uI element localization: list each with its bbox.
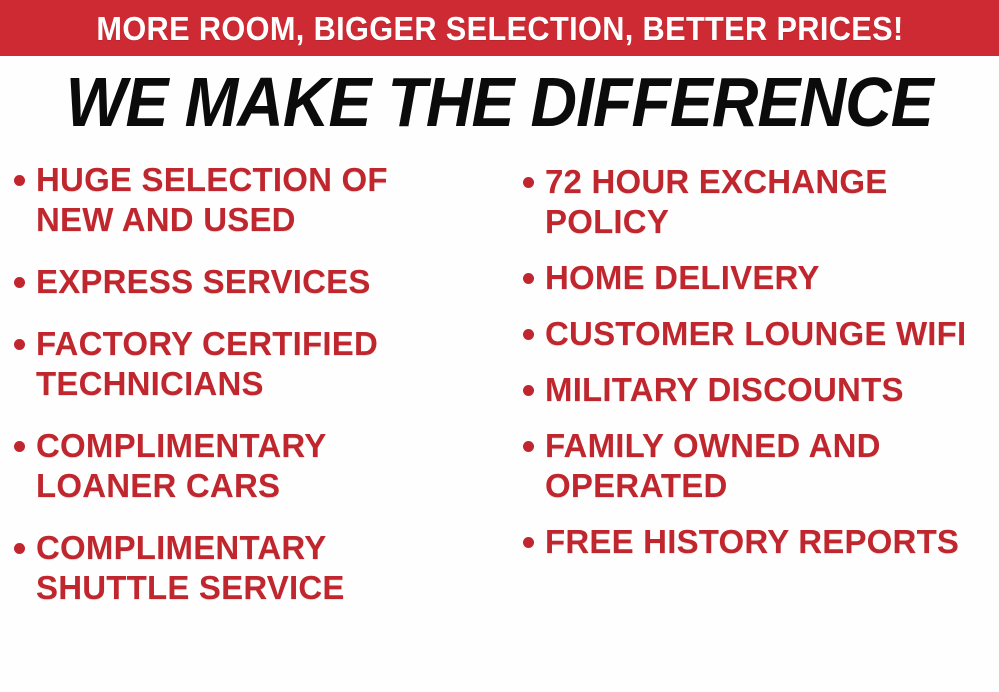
list-item: FAMILY OWNED AND OPERATED	[523, 426, 999, 506]
bullet-dot-icon	[523, 385, 534, 396]
bullet-dot-icon	[523, 329, 534, 340]
bullet-item-label: CUSTOMER LOUNGE WIFI	[545, 314, 966, 354]
features-columns: HUGE SELECTION OF NEW AND USED EXPRESS S…	[0, 150, 999, 692]
bullet-dot-icon	[14, 339, 25, 350]
bullet-dot-icon	[14, 277, 25, 288]
bullet-item-label: MILITARY DISCOUNTS	[545, 370, 904, 410]
page-title: WE MAKE THE DIFFERENCE	[66, 66, 933, 138]
left-feature-column: HUGE SELECTION OF NEW AND USED EXPRESS S…	[0, 150, 505, 630]
list-item: EXPRESS SERVICES	[14, 262, 505, 302]
main-headline-container: WE MAKE THE DIFFERENCE	[0, 62, 999, 142]
bullet-item-label: FACTORY CERTIFIED TECHNICIANS	[36, 324, 466, 404]
right-bullet-list: 72 HOUR EXCHANGE POLICY HOME DELIVERY CU…	[523, 162, 999, 562]
right-feature-column: 72 HOUR EXCHANGE POLICY HOME DELIVERY CU…	[505, 150, 999, 578]
bullet-item-label: EXPRESS SERVICES	[36, 262, 371, 302]
bullet-item-label: COMPLIMENTARY SHUTTLE SERVICE	[36, 528, 466, 608]
list-item: 72 HOUR EXCHANGE POLICY	[523, 162, 999, 242]
list-item: FREE HISTORY REPORTS	[523, 522, 999, 562]
list-item: HUGE SELECTION OF NEW AND USED	[14, 160, 505, 240]
list-item: MILITARY DISCOUNTS	[523, 370, 999, 410]
list-item: HOME DELIVERY	[523, 258, 999, 298]
bullet-item-label: FAMILY OWNED AND OPERATED	[545, 426, 993, 506]
bullet-item-label: COMPLIMENTARY LOANER CARS	[36, 426, 466, 506]
bullet-dot-icon	[14, 543, 25, 554]
bullet-item-label: HOME DELIVERY	[545, 258, 820, 298]
bullet-dot-icon	[523, 177, 534, 188]
bullet-dot-icon	[14, 441, 25, 452]
list-item: COMPLIMENTARY SHUTTLE SERVICE	[14, 528, 505, 608]
top-banner: MORE ROOM, BIGGER SELECTION, BETTER PRIC…	[0, 0, 999, 56]
bullet-item-label: HUGE SELECTION OF NEW AND USED	[36, 160, 466, 240]
list-item: FACTORY CERTIFIED TECHNICIANS	[14, 324, 505, 404]
bullet-dot-icon	[523, 441, 534, 452]
list-item: COMPLIMENTARY LOANER CARS	[14, 426, 505, 506]
promotional-poster: MORE ROOM, BIGGER SELECTION, BETTER PRIC…	[0, 0, 999, 692]
bullet-dot-icon	[14, 175, 25, 186]
bullet-item-label: FREE HISTORY REPORTS	[545, 522, 959, 562]
list-item: CUSTOMER LOUNGE WIFI	[523, 314, 999, 354]
bullet-dot-icon	[523, 273, 534, 284]
bullet-item-label: 72 HOUR EXCHANGE POLICY	[545, 162, 993, 242]
bullet-dot-icon	[523, 537, 534, 548]
left-bullet-list: HUGE SELECTION OF NEW AND USED EXPRESS S…	[14, 160, 505, 608]
banner-headline-text: MORE ROOM, BIGGER SELECTION, BETTER PRIC…	[96, 12, 903, 45]
